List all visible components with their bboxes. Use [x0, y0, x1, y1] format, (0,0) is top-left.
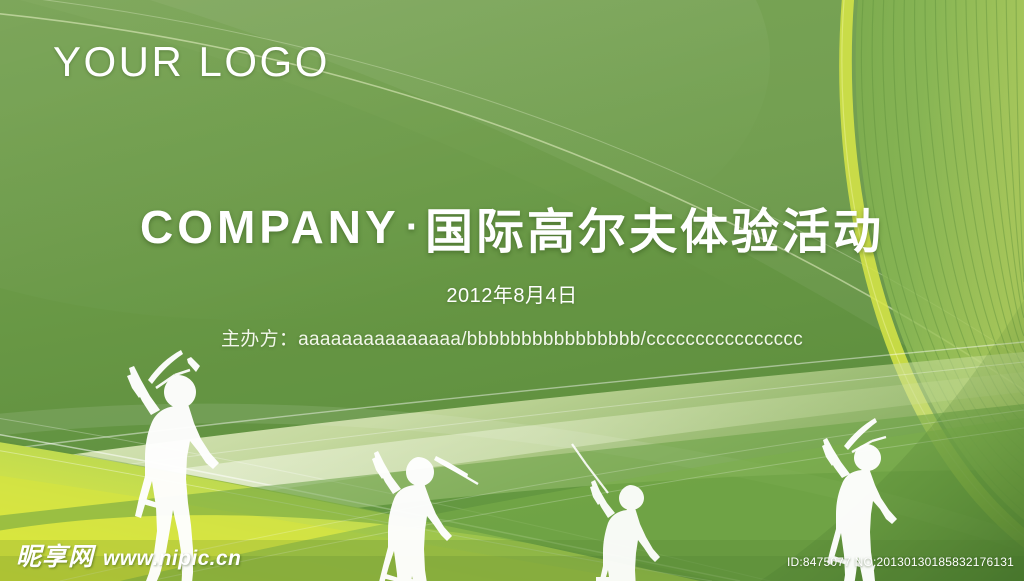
poster-canvas: YOUR LOGO COMPANY·国际高尔夫体验活动 2012年8月4日 主办… — [0, 0, 1024, 581]
watermark-site-name: 昵享网 — [16, 537, 94, 573]
golfer-silhouette-3 — [590, 480, 660, 581]
title-separator: · — [400, 205, 425, 249]
title-chinese: 国际高尔夫体验活动 — [425, 206, 884, 259]
watermark-url: www.nipic.cn — [103, 547, 241, 571]
page-title: COMPANY·国际高尔夫体验活动 — [0, 192, 1024, 262]
event-host: 主办方：aaaaaaaaaaaaaaa/bbbbbbbbbbbbbbbb/ccc… — [0, 324, 1024, 351]
golf-club-3 — [572, 444, 608, 493]
event-date: 2012年8月4日 — [0, 279, 1024, 308]
site-watermark: 昵享网 www.nipic.cn — [16, 537, 241, 573]
title-company: COMPANY — [140, 201, 400, 253]
logo-text: YOUR LOGO — [53, 38, 330, 86]
golf-club-2 — [440, 462, 478, 484]
asset-id-text: ID:8475077 NO:20130130185832176131 — [787, 555, 1014, 569]
